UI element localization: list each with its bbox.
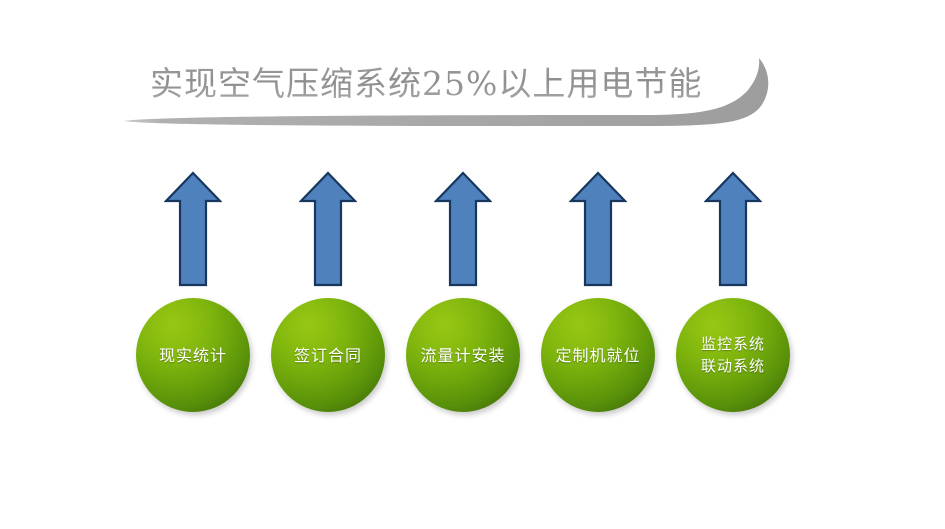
process-circle-label-5: 监控系统 联动系统: [697, 333, 769, 377]
page-title: 实现空气压缩系统25%以上用电节能: [150, 56, 750, 112]
process-circle-label-2: 签订合同: [290, 345, 366, 366]
process-circle-2[interactable]: 签订合同: [271, 298, 385, 412]
process-circle-label-1: 现实统计: [155, 345, 231, 366]
process-circle-3[interactable]: 流量计安装: [406, 298, 520, 412]
up-arrow-icon-1: [164, 170, 222, 288]
process-circle-label-4: 定制机就位: [551, 345, 644, 366]
slide-canvas: 实现空气压缩系统25%以上用电节能 现实统计 签订合同 流量计安装 定制机就位 …: [0, 0, 945, 529]
process-circle-1[interactable]: 现实统计: [136, 298, 250, 412]
up-arrow-icon-5: [704, 170, 762, 288]
process-circle-label-3: 流量计安装: [416, 345, 509, 366]
up-arrow-icon-2: [299, 170, 357, 288]
process-circle-4[interactable]: 定制机就位: [541, 298, 655, 412]
up-arrow-icon-3: [434, 170, 492, 288]
process-circle-5[interactable]: 监控系统 联动系统: [676, 298, 790, 412]
title-banner: 实现空气压缩系统25%以上用电节能: [0, 20, 945, 150]
up-arrow-icon-4: [569, 170, 627, 288]
